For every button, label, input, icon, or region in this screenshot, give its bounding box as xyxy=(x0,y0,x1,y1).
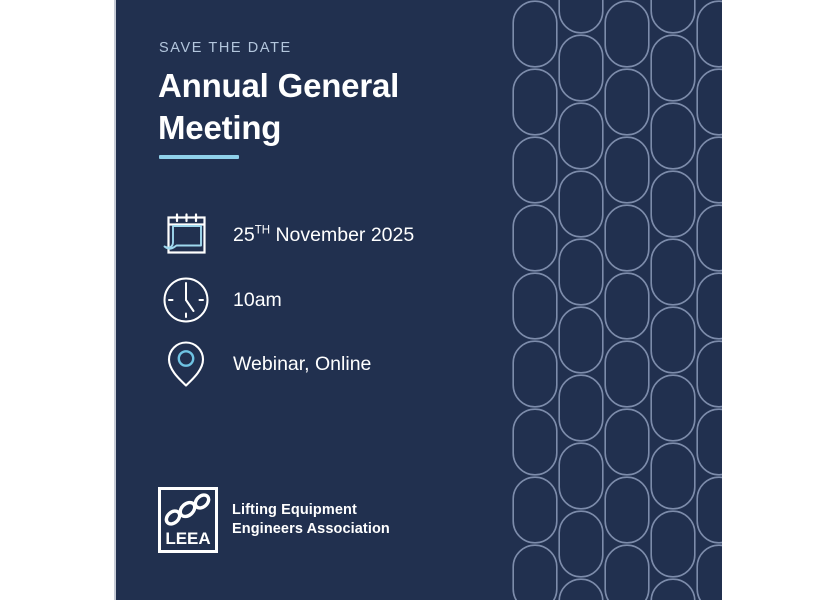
leea-name-line-1: Lifting Equipment xyxy=(232,501,390,520)
detail-row-location: Webinar, Online xyxy=(158,334,371,394)
detail-text-time: 10am xyxy=(233,289,282,312)
chain-link-capsule-pattern xyxy=(512,0,722,600)
save-the-date-poster: SAVE THE DATE Annual General Meeting xyxy=(0,0,840,600)
headline-line-2: Meeting xyxy=(158,109,281,146)
calendar-icon xyxy=(158,207,214,263)
poster-content: SAVE THE DATE Annual General Meeting xyxy=(158,0,518,600)
location-pin-icon xyxy=(158,336,214,392)
leea-name-line-2: Engineers Association xyxy=(232,520,390,539)
leea-logo-name: Lifting Equipment Engineers Association xyxy=(232,501,390,539)
clock-icon xyxy=(158,272,214,328)
detail-row-date: 25TH November 2025 xyxy=(158,205,414,265)
date-rest: November 2025 xyxy=(270,224,414,246)
detail-row-time: 10am xyxy=(158,270,282,330)
detail-text-date: 25TH November 2025 xyxy=(233,224,414,247)
detail-text-location: Webinar, Online xyxy=(233,353,371,376)
leea-logo-lockup: LEEA Lifting Equipment Engineers Associa… xyxy=(158,487,390,553)
date-day: 25 xyxy=(233,224,255,246)
eyebrow-label: SAVE THE DATE xyxy=(159,40,292,56)
navy-panel: SAVE THE DATE Annual General Meeting xyxy=(116,0,722,600)
headline-line-1: Annual General xyxy=(158,67,399,104)
accent-rule xyxy=(159,155,239,159)
page-title: Annual General Meeting xyxy=(158,65,498,149)
leea-logo-text: LEEA xyxy=(165,529,210,548)
date-ordinal: TH xyxy=(255,224,270,236)
leea-logo-mark: LEEA xyxy=(158,487,218,553)
